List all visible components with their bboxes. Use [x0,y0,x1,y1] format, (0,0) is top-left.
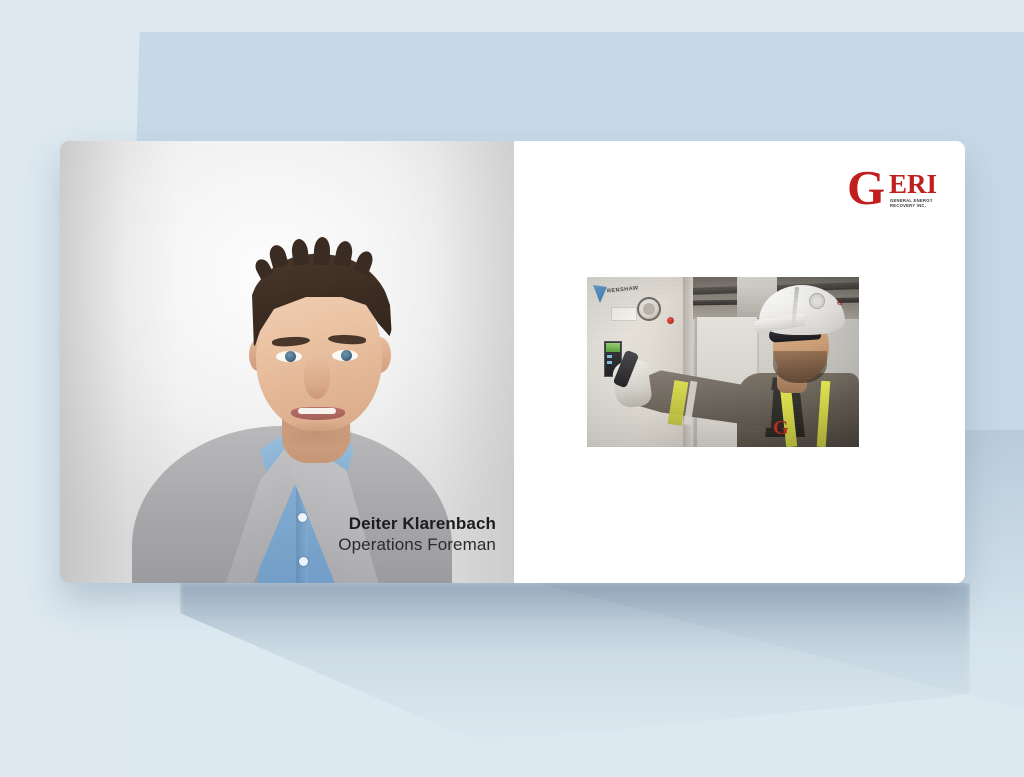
logo-wordmark: ERI [889,171,937,198]
content-panel: G ERI GENERAL ENERGY RECOVERY INC. RENSH [514,141,965,583]
photo-panel-led [607,361,612,364]
logo-letter-g: G [847,168,883,208]
teeth [298,408,336,414]
photo-worker-beard [773,351,827,383]
person-name: Deiter Klarenbach [338,513,496,535]
photo-panel-led [607,355,612,358]
hair-spike [267,243,288,269]
chin-shadow [282,423,352,445]
person-caption: Deiter Klarenbach Operations Foreman [338,513,496,557]
iris-right [341,350,352,361]
shirt-button [298,513,307,522]
eye-right [332,350,358,361]
photo-hard-hat-logo: G [837,299,842,307]
person-role: Operations Foreman [338,534,496,556]
workplace-photo: RENSHAW G [587,277,859,447]
shirt-button [299,557,308,566]
nose [304,357,330,399]
eye-left [276,351,302,362]
photo-hard-hat-badge [809,293,825,309]
hair-spike [354,249,376,275]
photo-wall-placard [611,307,637,321]
hair-spike [314,237,331,266]
photo-coverall-logo: G [773,417,789,440]
slide-canvas: Deiter Klarenbach Operations Foreman G E… [0,0,1024,777]
logo-tagline-line2: RECOVERY INC. [890,203,940,208]
photo-gauge-face [643,303,655,315]
profile-card: Deiter Klarenbach Operations Foreman G E… [60,141,965,583]
logo-tagline: GENERAL ENERGY RECOVERY INC. [890,198,940,209]
geri-logo: G ERI GENERAL ENERGY RECOVERY INC. [847,168,939,216]
portrait-photo: Deiter Klarenbach Operations Foreman [60,141,514,583]
photo-panel-display [606,343,620,352]
hair-spike [290,238,309,266]
iris-left [285,351,296,362]
photo-emergency-button [667,317,674,324]
